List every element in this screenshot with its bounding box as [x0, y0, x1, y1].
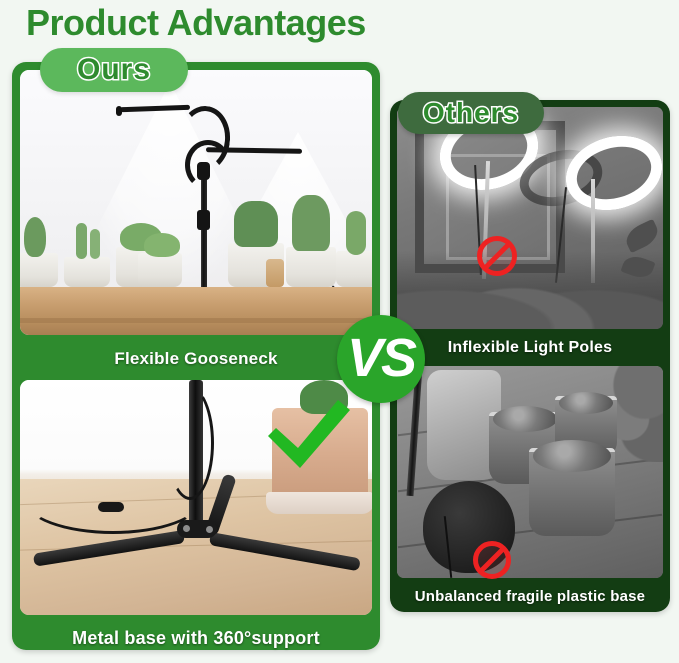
pot-8-wood	[266, 259, 284, 287]
lamp-pole-clamp	[197, 210, 210, 230]
pot-2-soil	[559, 392, 613, 414]
lamp-head-upper-left	[116, 106, 122, 116]
plant-1	[24, 217, 46, 257]
scene-ring-lights	[397, 107, 663, 329]
vs-badge: VS	[337, 315, 425, 403]
scene-plastic-base	[397, 366, 663, 578]
badge-others-label: Others	[423, 97, 519, 129]
page-title: Product Advantages	[26, 2, 366, 44]
badge-others: Others	[398, 92, 544, 134]
caption-inflexible-light-poles: Inflexible Light Poles	[390, 334, 670, 362]
pot-4	[138, 253, 182, 287]
plant-4-succulent	[144, 233, 180, 257]
badge-ours: Ours	[40, 48, 188, 92]
pot-7	[336, 251, 372, 287]
others-photo-light-poles	[397, 107, 663, 329]
caption-flexible-gooseneck: Flexible Gooseneck	[12, 343, 380, 375]
lamp-cable-loop	[166, 386, 214, 500]
prohibited-sign-icon-plastic-base	[473, 541, 511, 579]
product-advantages-infographic: Product Advantages	[0, 0, 679, 663]
plant-6-haworthia	[292, 195, 330, 251]
inline-switch	[98, 502, 124, 512]
scene-desk-gooseneck	[20, 70, 372, 335]
plant-7-cactus	[346, 211, 366, 255]
badge-ours-label: Ours	[77, 53, 151, 87]
pot-1	[20, 253, 58, 287]
others-column: Inflexible Light Poles Unbalanc	[390, 100, 670, 612]
prohibited-sign-icon-light-poles	[477, 236, 517, 276]
pot-saucer	[266, 492, 372, 514]
ours-column: Flexible Gooseneck	[12, 62, 380, 650]
caption-unbalanced-plastic-base: Unbalanced fragile plastic base	[390, 582, 670, 610]
tripod-screw-left	[183, 525, 190, 532]
ours-photo-gooseneck	[20, 70, 372, 335]
plant-2-cactus	[76, 223, 87, 259]
wooden-desk	[20, 287, 372, 335]
lamp-knuckle	[197, 162, 210, 180]
pot-2	[64, 257, 110, 287]
leaf-right	[622, 219, 662, 253]
pot-1-soil	[493, 406, 557, 432]
pot-6	[286, 247, 336, 287]
pot-3-soil	[533, 440, 611, 472]
others-photo-plastic-base	[397, 366, 663, 578]
desk-edge	[20, 318, 372, 323]
vs-label: VS	[347, 331, 415, 385]
caption-metal-base: Metal base with 360°support	[12, 622, 380, 654]
lamp-pole	[201, 171, 207, 299]
check-mark-icon	[262, 398, 354, 470]
plant-5-aloe	[234, 201, 278, 247]
plant-2-cactus-b	[90, 229, 100, 259]
ring-light-right	[557, 125, 663, 221]
tripod-screw-right	[206, 526, 213, 533]
